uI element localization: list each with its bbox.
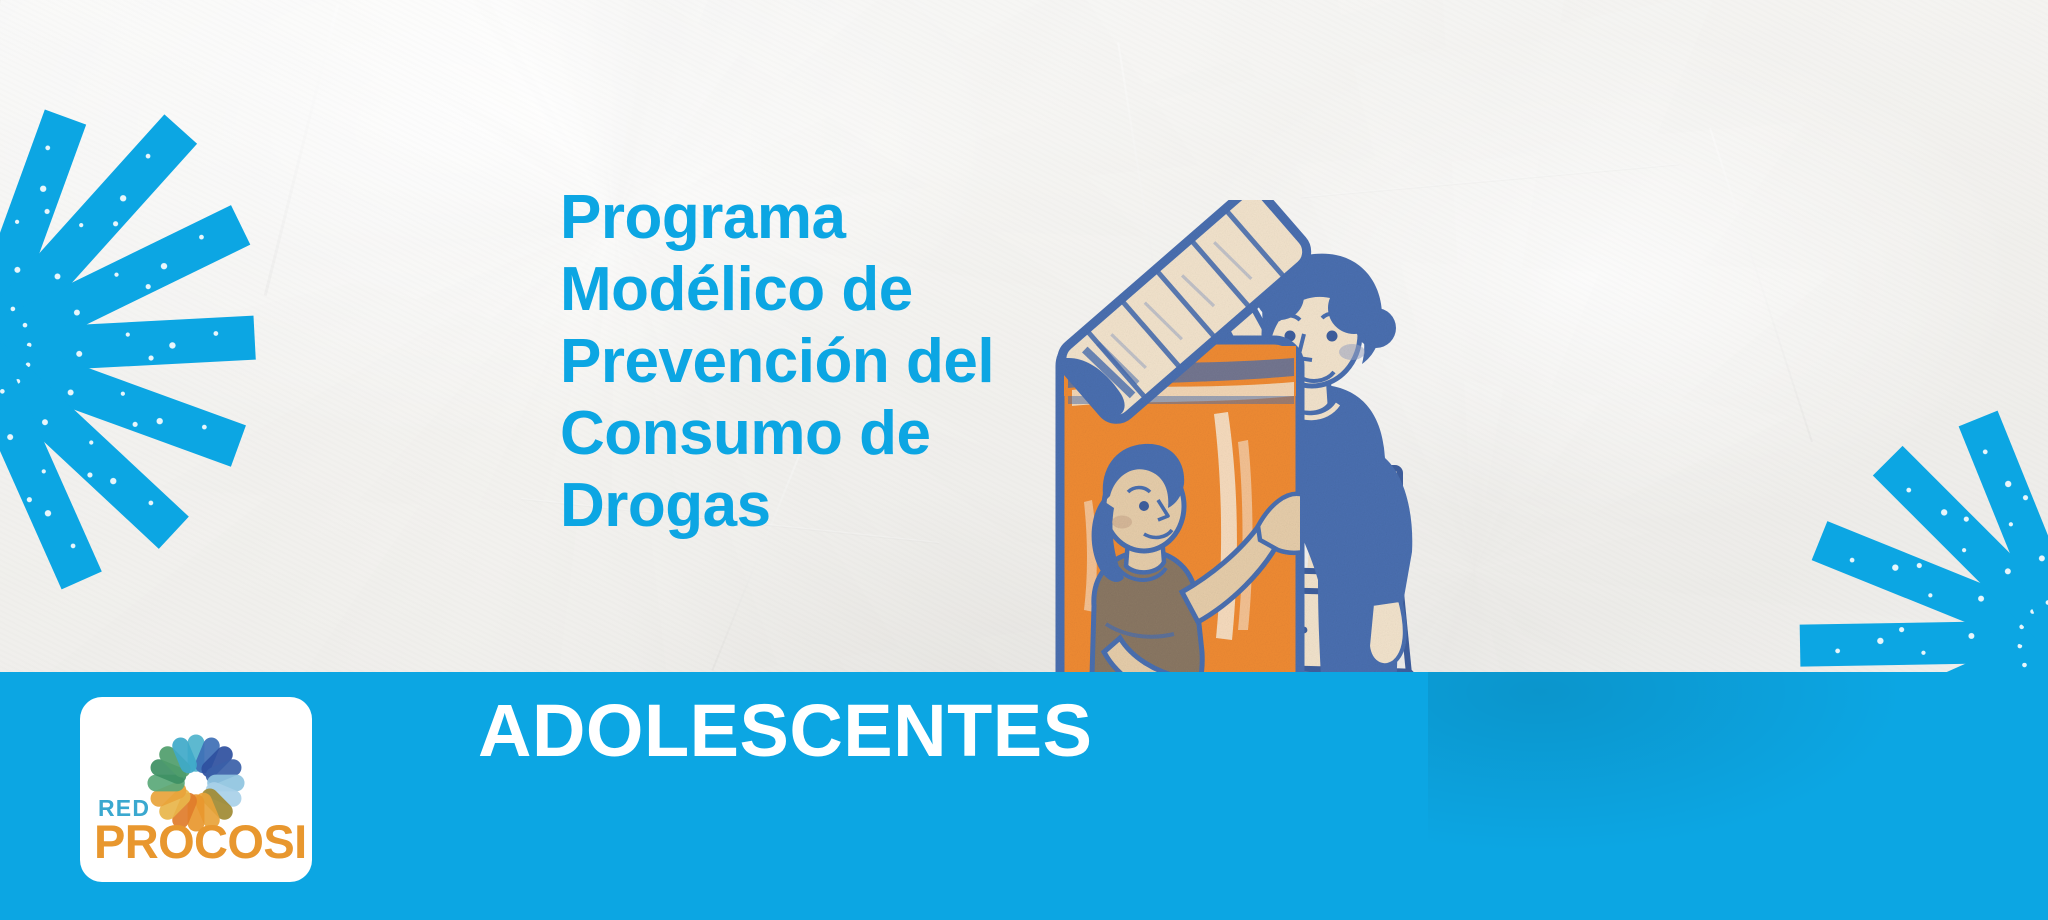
banner-root: Programa Modélico de Prevención del Cons… (0, 0, 2048, 920)
band-shadow (1428, 672, 2048, 920)
page-title: Programa Modélico de Prevención del Cons… (560, 182, 994, 542)
audience-label: ADOLESCENTES (478, 688, 1093, 773)
paper-crease (1709, 128, 1813, 442)
paper-crease (264, 4, 339, 296)
logo-card[interactable]: RED PROCOSI (80, 697, 312, 882)
paper-crease (1301, 163, 1680, 198)
logo-procosi-text: PROCOSI (94, 814, 307, 869)
